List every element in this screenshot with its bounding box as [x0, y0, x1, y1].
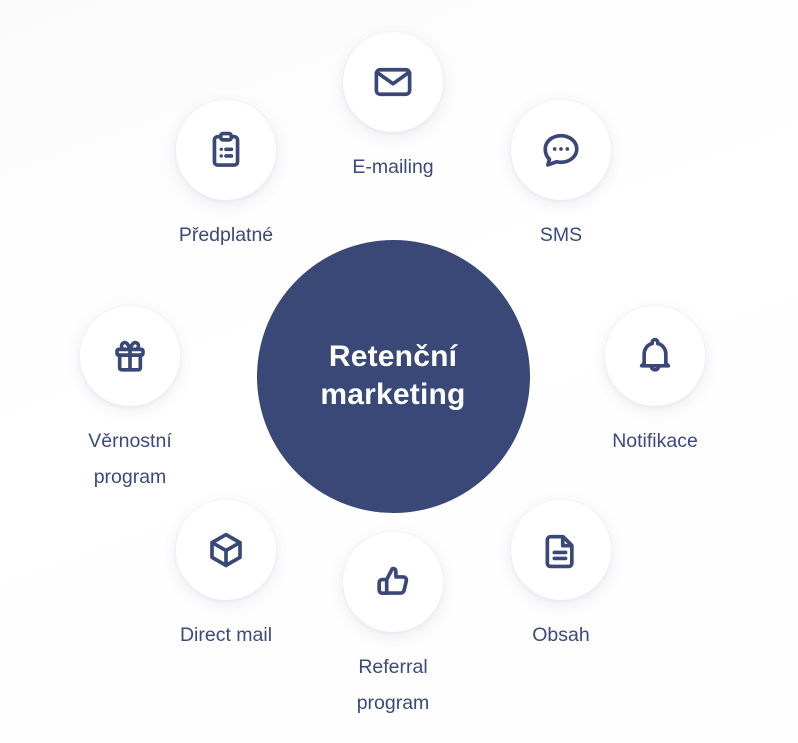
- node-icon-circle[interactable]: [511, 500, 611, 600]
- node-direct-mail[interactable]: Direct mail: [146, 500, 306, 653]
- node-label: Notifikace: [612, 423, 698, 459]
- node-label: SMS: [540, 217, 582, 253]
- gift-icon: [109, 335, 151, 377]
- node-e-mailing[interactable]: E-mailing: [313, 32, 473, 185]
- node-icon-circle[interactable]: [176, 500, 276, 600]
- node-notifikace[interactable]: Notifikace: [575, 306, 735, 459]
- node-label: Referral program: [357, 649, 430, 721]
- document-icon: [540, 529, 582, 571]
- node-label: Věrnostní program: [88, 423, 171, 495]
- node-referral-program[interactable]: Referral program: [313, 532, 473, 721]
- node-label: Direct mail: [180, 617, 272, 653]
- retention-marketing-diagram: Retenční marketing E-mailing SMS: [0, 0, 798, 743]
- package-box-icon: [205, 529, 247, 571]
- node-icon-circle[interactable]: [176, 100, 276, 200]
- node-label: E-mailing: [352, 149, 433, 185]
- node-vernostni-program[interactable]: Věrnostní program: [50, 306, 210, 495]
- node-label: Obsah: [532, 617, 589, 653]
- node-icon-circle[interactable]: [80, 306, 180, 406]
- hub-label: Retenční marketing: [294, 338, 491, 415]
- node-icon-circle[interactable]: [511, 100, 611, 200]
- node-predplatne[interactable]: Předplatné: [146, 100, 306, 253]
- thumbs-up-icon: [372, 561, 414, 603]
- chat-bubble-dots-icon: [540, 129, 582, 171]
- node-obsah[interactable]: Obsah: [481, 500, 641, 653]
- node-icon-circle[interactable]: [605, 306, 705, 406]
- bell-icon: [634, 335, 676, 377]
- envelope-icon: [372, 61, 414, 103]
- node-icon-circle[interactable]: [343, 532, 443, 632]
- clipboard-list-icon: [205, 129, 247, 171]
- node-label: Předplatné: [179, 217, 273, 253]
- node-icon-circle[interactable]: [343, 32, 443, 132]
- hub-circle: Retenční marketing: [257, 240, 530, 513]
- node-sms[interactable]: SMS: [481, 100, 641, 253]
